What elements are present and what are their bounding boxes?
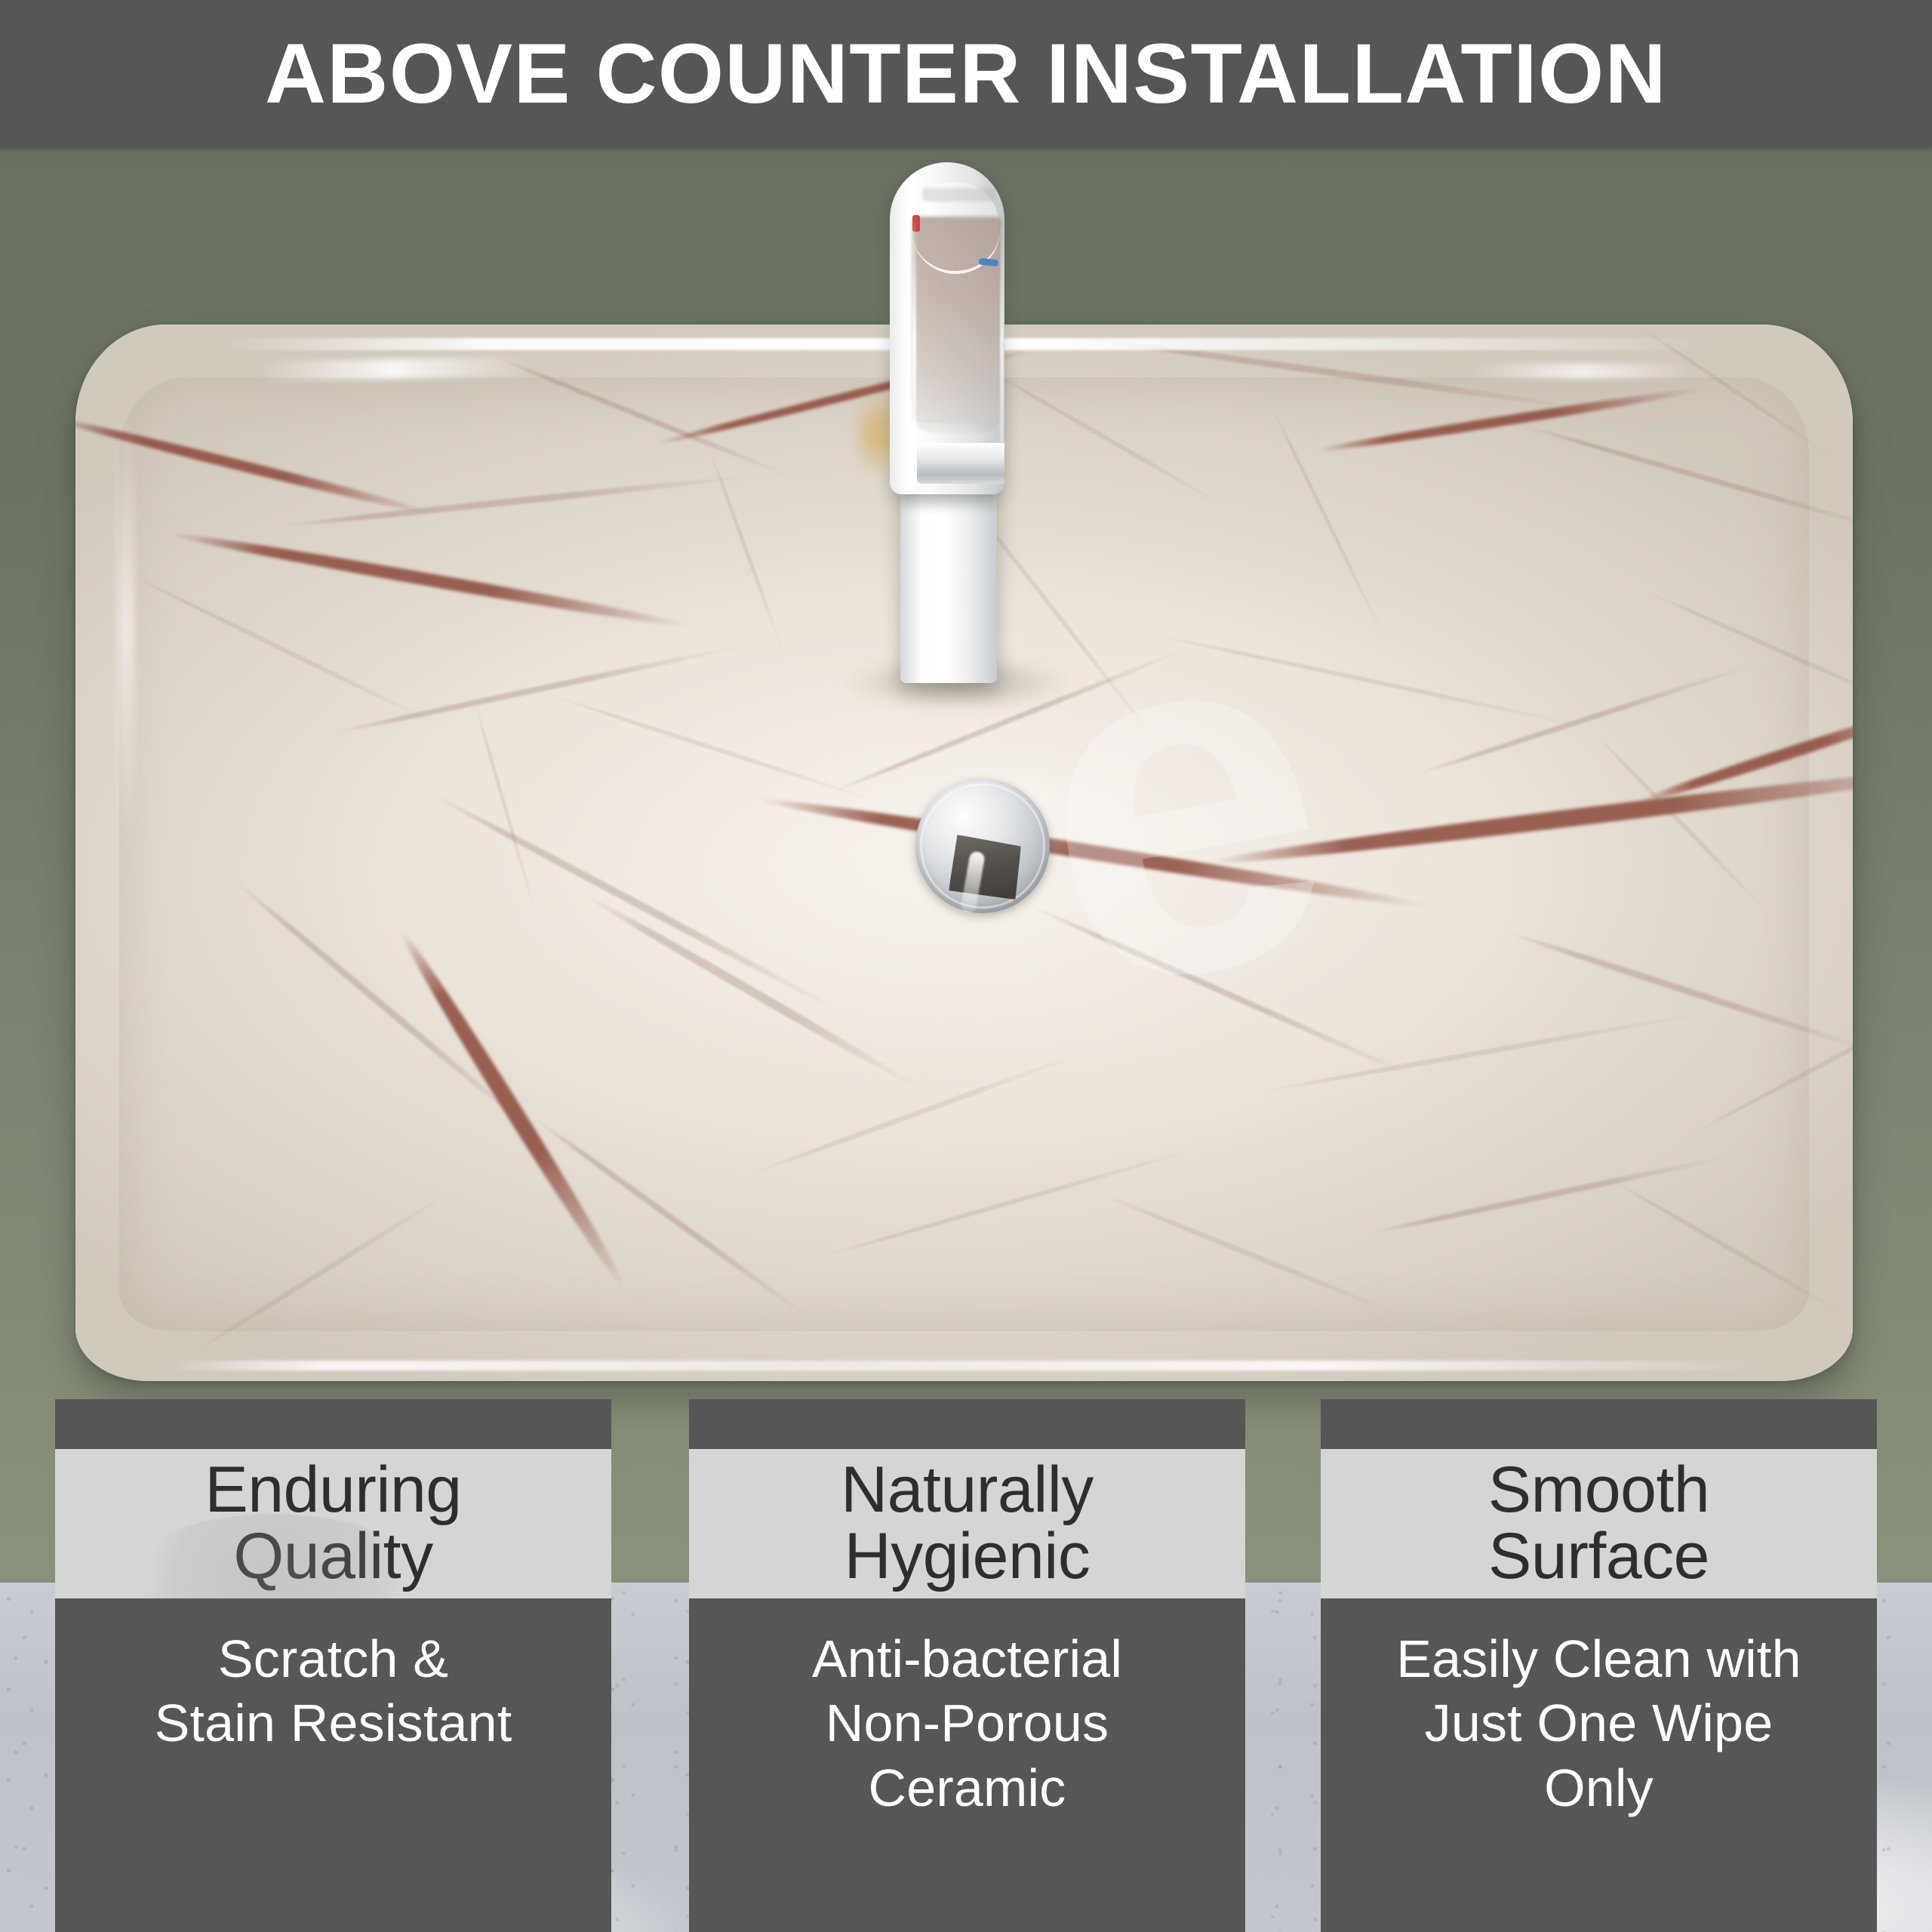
product-infographic: ABOVE COUNTER INSTALLATION e [0,0,1932,1932]
card-title-line2: Hygienic [844,1520,1091,1592]
card-body-panel: Anti-bacterialNon-PorousCeramic [689,1598,1245,1932]
card-title-line1: Naturally [841,1454,1094,1526]
card-body-line2: Just One Wipe [1425,1694,1774,1752]
card-top-accent-bar [55,1399,611,1449]
card-body-panel: Scratch &Stain Resistant [55,1598,611,1932]
card-title: NaturallyHygienic [833,1457,1101,1589]
feature-card-naturally-hygienic: NaturallyHygienic Anti-bacterialNon-Poro… [689,1387,1245,1932]
card-body: Easily Clean withJust One WipeOnly [1386,1627,1811,1820]
drain-slot [949,835,1021,900]
rim-highlight-bottom [166,1361,1766,1371]
faucet-brand-mark [923,188,995,202]
rim-highlight-left [118,415,134,838]
card-body-line2: Non-Porous [826,1694,1109,1752]
card-title-line1: Smooth [1488,1454,1709,1526]
card-body: Scratch &Stain Resistant [144,1627,523,1756]
pop-up-drain [915,779,1050,913]
card-title-panel: SmoothSurface [1321,1449,1877,1598]
card-title: EnduringQuality [197,1457,469,1589]
card-title-panel: NaturallyHygienic [689,1449,1245,1598]
card-body-line3: Only [1544,1758,1654,1817]
feature-card-enduring-quality: EnduringQuality Scratch &Stain Resistant [55,1387,611,1932]
faucet-collar [917,443,1004,484]
page-title: ABOVE COUNTER INSTALLATION [265,32,1667,116]
card-title-line1: Enduring [205,1454,461,1526]
feature-card-row: EnduringQuality Scratch &Stain Resistant… [0,1387,1932,1932]
card-body-line3: Ceramic [868,1758,1066,1817]
basin-mixer-faucet [872,162,1034,683]
card-title: SmoothSurface [1481,1457,1717,1589]
card-top-accent-bar [689,1399,1245,1449]
card-title-line2: Surface [1488,1520,1709,1592]
card-body-line1: Scratch & [218,1629,448,1688]
card-body-line1: Anti-bacterial [812,1629,1122,1688]
faucet-edge-highlight-right [1000,217,1004,466]
faucet-head [890,162,1004,494]
header-banner: ABOVE COUNTER INSTALLATION [0,0,1932,148]
feature-card-smooth-surface: SmoothSurface Easily Clean withJust One … [1321,1387,1877,1932]
card-body: Anti-bacterialNon-PorousCeramic [801,1627,1133,1820]
card-title-panel: EnduringQuality [55,1449,611,1598]
card-body-line1: Easily Clean with [1396,1629,1801,1688]
card-title-line2: Quality [233,1520,432,1592]
card-top-accent-bar [1321,1399,1877,1449]
rim-gloss-top-right [1468,364,1694,379]
card-body-line2: Stain Resistant [155,1694,512,1752]
faucet-edge-highlight-left [912,211,916,473]
card-body-panel: Easily Clean withJust One WipeOnly [1321,1598,1877,1932]
